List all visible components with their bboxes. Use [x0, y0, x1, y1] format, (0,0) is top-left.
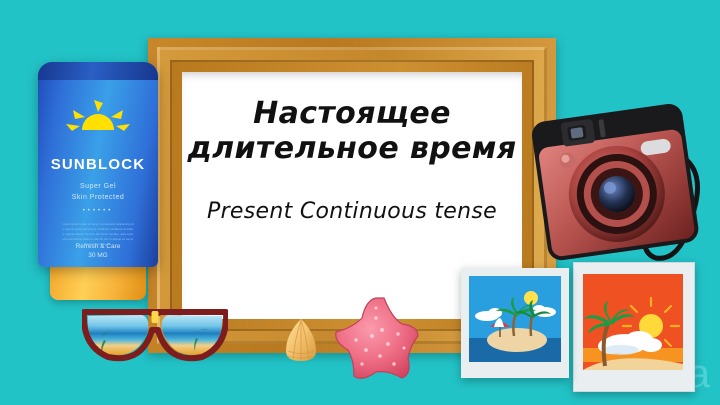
sunblock-footer: Refresh & Care 30 MG	[38, 242, 158, 262]
camera-icon	[528, 90, 718, 280]
island-scene-icon	[469, 276, 561, 362]
sunblock-body: SUNBLOCK Super Gel Skin Protected ••••••…	[38, 62, 158, 267]
starfish-icon	[332, 296, 420, 382]
sun-icon	[65, 100, 131, 142]
sunblock-tube: SUNBLOCK Super Gel Skin Protected ••••••…	[38, 62, 158, 300]
sunblock-brand-label: SUNBLOCK	[38, 156, 158, 173]
sunblock-shoulder	[38, 62, 158, 80]
seashell-icon	[283, 318, 319, 362]
page-subtitle-english: Present Continuous tense	[207, 199, 497, 224]
slide-canvas: Настоящее длительное время Present Conti…	[0, 0, 720, 405]
sunblock-rating-dots: ••••••	[38, 208, 158, 214]
page-title-russian: Настоящее длительное время	[187, 96, 517, 167]
sunblock-subtitle: Super Gel Skin Protected	[38, 182, 158, 204]
sunset-scene-icon	[583, 274, 683, 370]
photo-island	[461, 268, 569, 378]
photo-sunset	[573, 262, 695, 392]
sunglasses-icon	[82, 300, 228, 362]
